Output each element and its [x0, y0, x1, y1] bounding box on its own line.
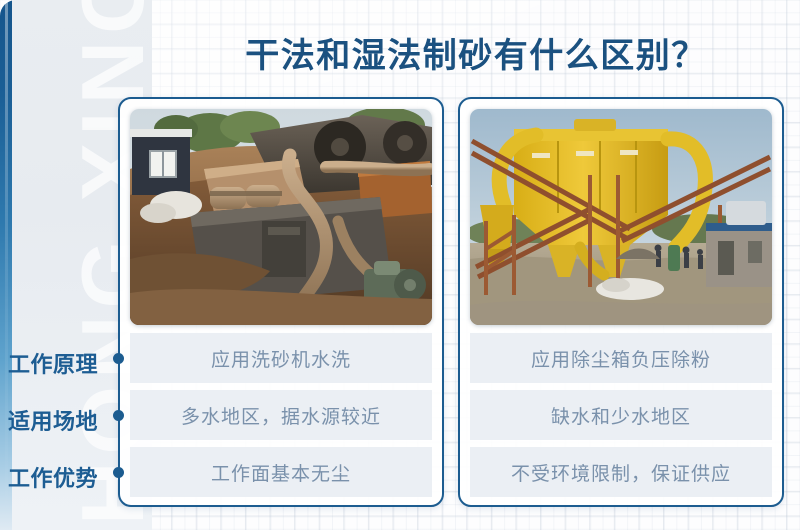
row-bullet-icon — [113, 410, 124, 421]
table-row: 缺水和少水地区 — [470, 390, 772, 440]
comparison-card-dry: 应用除尘箱负压除粉 缺水和少水地区 不受环境限制，保证供应 — [458, 97, 784, 507]
row-bullet-icon — [113, 467, 124, 478]
row-bullet-icon — [113, 353, 124, 364]
cell-value: 多水地区，据水源较近 — [181, 402, 381, 429]
table-row: 工作面基本无尘 — [130, 447, 432, 497]
table-row: 应用除尘箱负压除粉 — [470, 333, 772, 383]
row-label-working-advantage: 工作优势 — [8, 461, 112, 493]
wet-method-rows: 应用洗砂机水洗 多水地区，据水源较近 工作面基本无尘 — [130, 333, 432, 497]
comparison-card-wet: 应用洗砂机水洗 多水地区，据水源较近 工作面基本无尘 — [118, 97, 444, 507]
table-row: 多水地区，据水源较近 — [130, 390, 432, 440]
cell-value: 应用洗砂机水洗 — [211, 345, 351, 372]
table-row: 应用洗砂机水洗 — [130, 333, 432, 383]
dry-dust-collector-plant-photo — [470, 109, 772, 325]
rail-edge-highlight — [5, 0, 8, 530]
wet-sand-washing-machine-photo — [130, 109, 432, 325]
table-row: 不受环境限制，保证供应 — [470, 447, 772, 497]
cell-value: 工作面基本无尘 — [211, 459, 351, 486]
cell-value: 缺水和少水地区 — [551, 402, 691, 429]
cell-value: 不受环境限制，保证供应 — [511, 459, 731, 486]
cell-value: 应用除尘箱负压除粉 — [531, 345, 711, 372]
page-title: 干法和湿法制砂有什么区别？ — [152, 28, 800, 77]
infographic-canvas: HONG XING 干法和湿法制砂有什么区别？ — [0, 0, 800, 530]
row-label-applicable-site: 适用场地 — [8, 404, 112, 436]
row-label-working-principle: 工作原理 — [8, 347, 112, 379]
dry-method-rows: 应用除尘箱负压除粉 缺水和少水地区 不受环境限制，保证供应 — [470, 333, 772, 497]
